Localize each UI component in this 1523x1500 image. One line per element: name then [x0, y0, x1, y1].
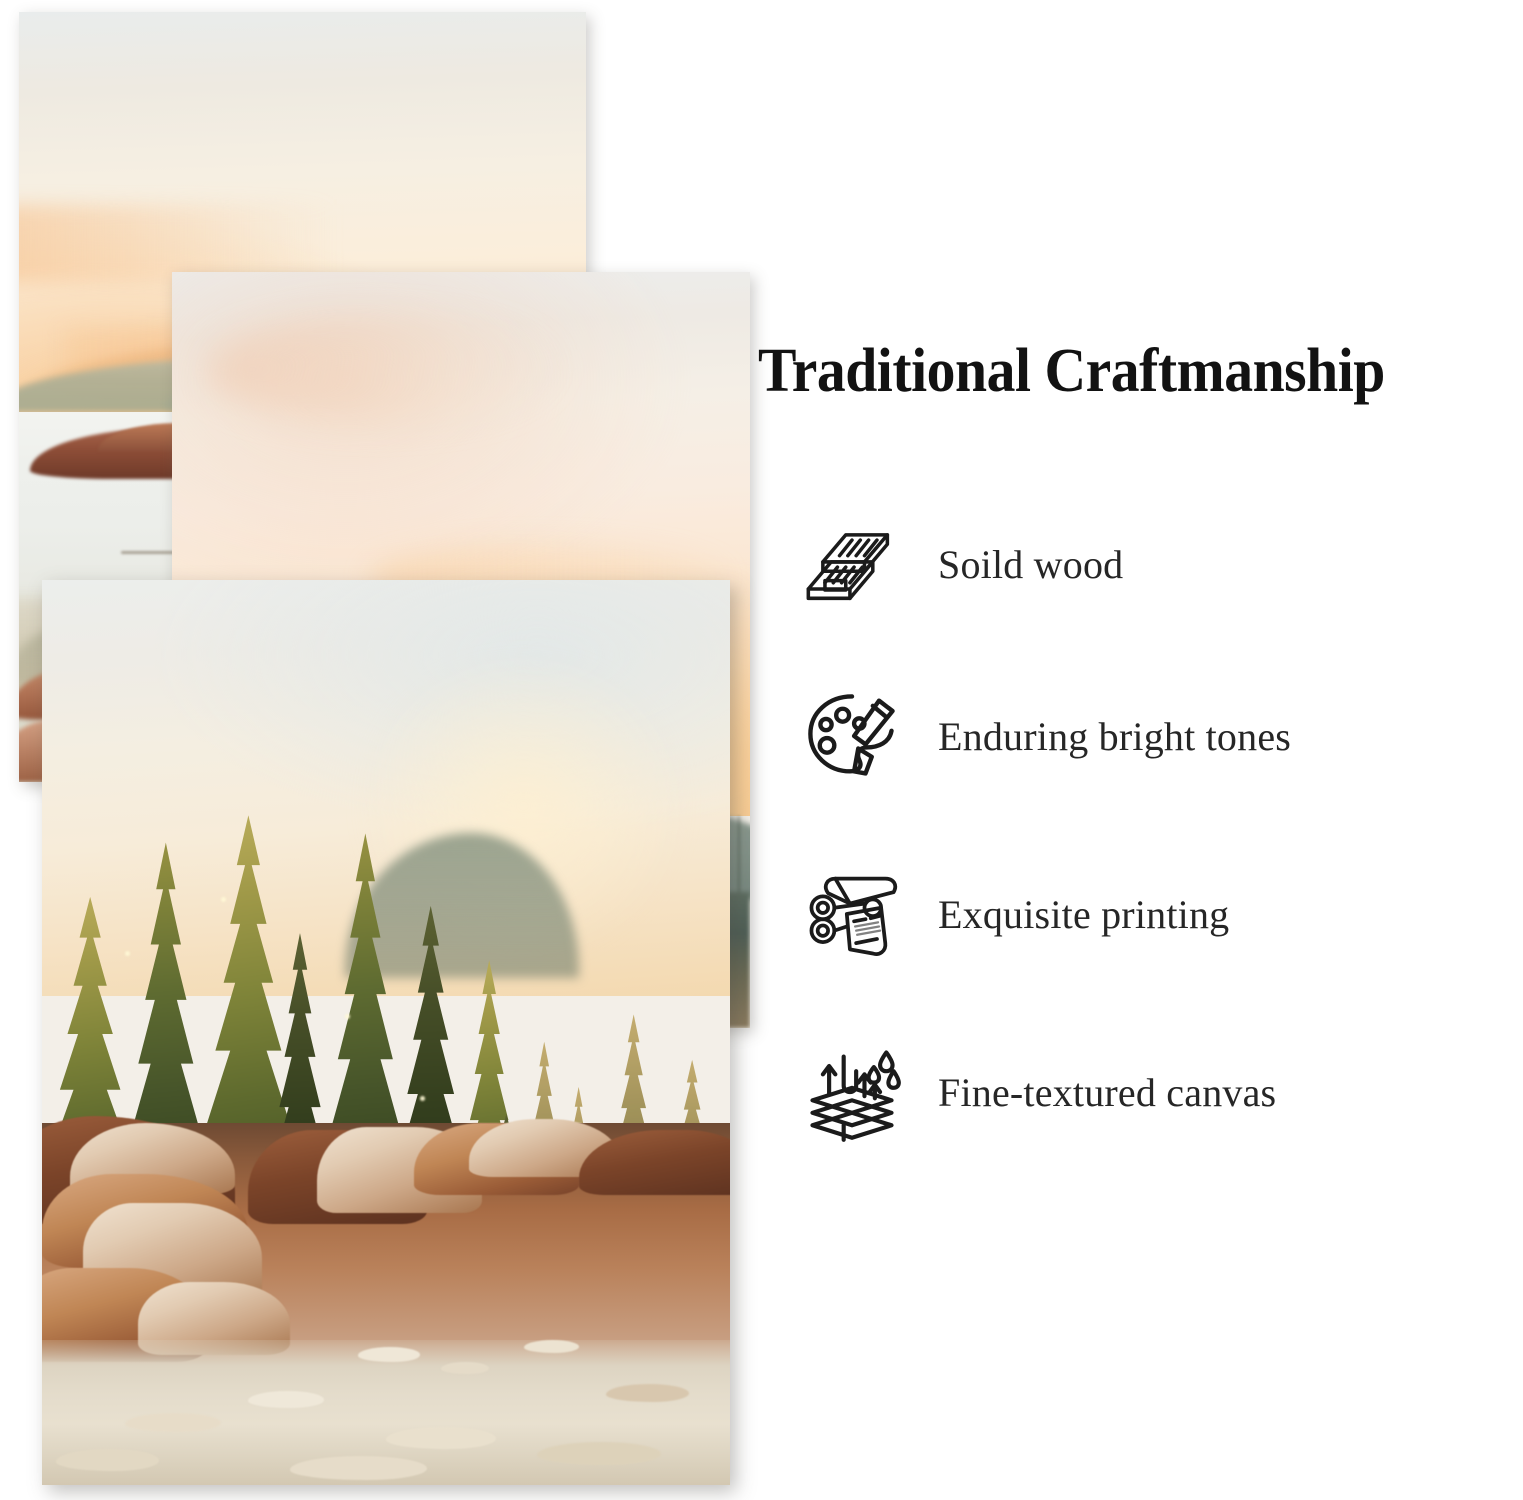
- printing-press-icon: [796, 858, 908, 970]
- wood-planks-icon: [796, 508, 908, 620]
- feature-label: Soild wood: [938, 541, 1123, 588]
- pebble: [606, 1384, 689, 1402]
- feature-label: Exquisite printing: [938, 891, 1229, 938]
- front-canvas-artwork: [42, 580, 730, 1485]
- pebble: [358, 1347, 420, 1361]
- feature-item-fine-textured-canvas: Fine-textured canvas: [796, 1036, 1496, 1148]
- light-speck: [221, 897, 226, 902]
- pebble: [56, 1449, 159, 1471]
- feature-item-enduring-bright-tones: Enduring bright tones: [796, 680, 1496, 792]
- pebble: [537, 1442, 661, 1465]
- feature-label: Fine-textured canvas: [938, 1069, 1276, 1116]
- product-feature-graphic: Traditional Craftmanship: [0, 0, 1523, 1500]
- cloud-haze: [19, 205, 337, 282]
- light-speck: [125, 951, 130, 956]
- cloud-haze: [207, 317, 565, 423]
- pebble: [248, 1391, 324, 1408]
- pebble: [441, 1362, 489, 1374]
- layered-canvas-icon: [796, 1036, 908, 1148]
- pebble: [125, 1413, 221, 1433]
- front-canvas-panel: [42, 580, 730, 1485]
- pebble: [290, 1456, 428, 1480]
- pebble: [524, 1340, 579, 1353]
- page-title: Traditional Craftmanship: [758, 340, 1385, 402]
- feature-list-section: Traditional Craftmanship: [752, 0, 1523, 1500]
- feature-item-soild-wood: Soild wood: [796, 508, 1496, 620]
- rock-formation: [42, 1123, 730, 1485]
- paint-palette-icon: [796, 680, 908, 792]
- feature-item-exquisite-printing: Exquisite printing: [796, 858, 1496, 970]
- feature-label: Enduring bright tones: [938, 713, 1291, 760]
- pebble: [386, 1427, 496, 1449]
